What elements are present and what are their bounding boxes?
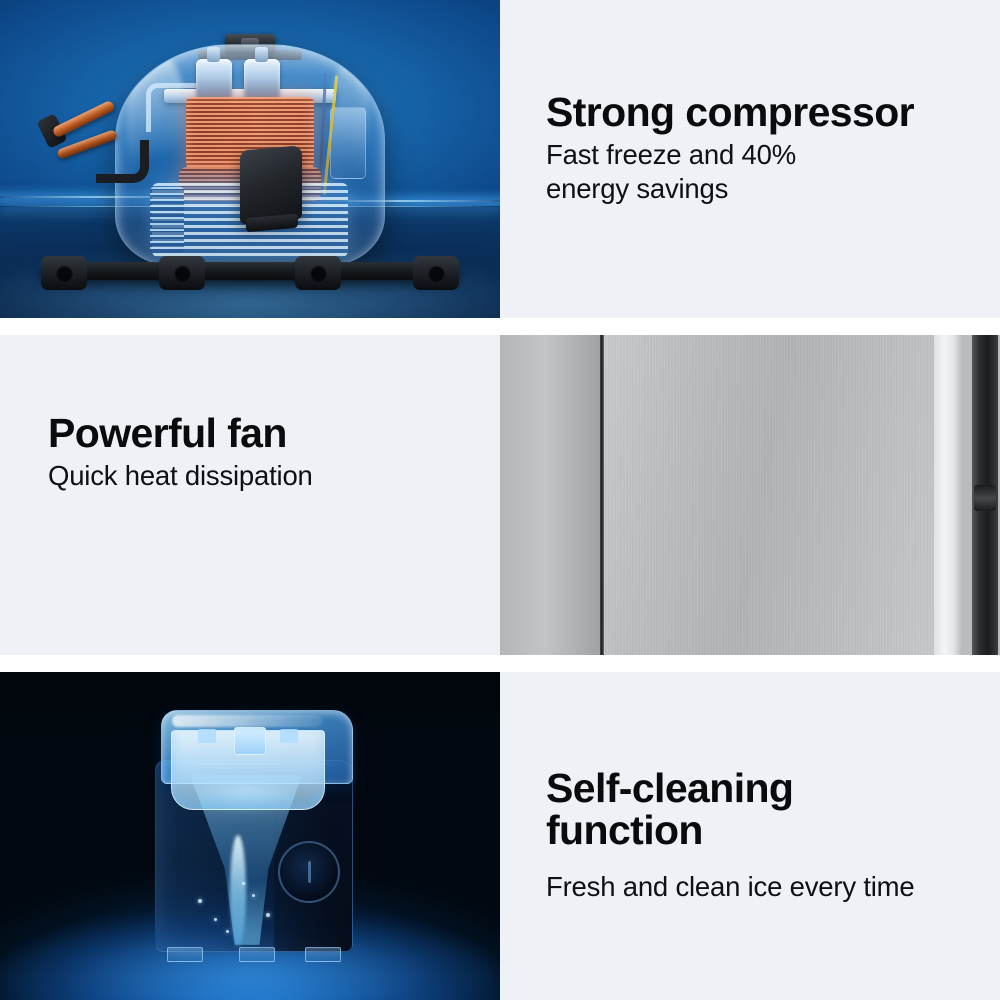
maker-foot — [239, 947, 275, 962]
ice-maker-scene — [0, 672, 500, 1000]
compressor-scene — [0, 0, 500, 318]
fan-scene — [500, 335, 1000, 655]
maker-foot — [305, 947, 341, 962]
terminal-box — [240, 145, 302, 224]
side-vent-icon — [278, 841, 340, 903]
compressor-text-panel: Strong compressor Fast freeze and 40% en… — [500, 0, 1000, 318]
water-vortex-core — [230, 835, 246, 947]
feature-row-self-cleaning: Self-cleaning function Fresh and clean i… — [0, 672, 1000, 1000]
self-cleaning-text-block: Self-cleaning function Fresh and clean i… — [546, 768, 980, 904]
water-droplet — [252, 894, 255, 897]
water-droplet — [214, 918, 217, 921]
foot-pad — [41, 256, 87, 290]
ice-basket — [171, 730, 325, 810]
foot-pad — [159, 256, 205, 290]
infographic-sheet: Strong compressor Fast freeze and 40% en… — [0, 0, 1000, 1000]
cylinder-head — [244, 59, 280, 99]
ice-maker-unit — [155, 710, 367, 952]
water-droplet — [242, 882, 245, 885]
mounting-feet — [41, 252, 459, 294]
internal-side-box — [330, 107, 366, 179]
maker-foot — [167, 947, 203, 962]
lid-highlight — [172, 715, 322, 727]
tube-elbow — [96, 140, 149, 183]
compressor-text-block: Strong compressor Fast freeze and 40% en… — [546, 92, 980, 207]
feature-row-powerful-fan: Powerful fan Quick heat dissipation — [0, 335, 1000, 655]
water-droplet — [266, 913, 270, 917]
foot-pad — [295, 256, 341, 290]
water-droplet — [198, 899, 202, 903]
compressor-image — [0, 0, 500, 318]
basket-clip — [280, 729, 298, 743]
feature-row-strong-compressor: Strong compressor Fast freeze and 40% en… — [0, 0, 1000, 318]
brushed-texture — [604, 335, 934, 655]
self-cleaning-text-panel: Self-cleaning function Fresh and clean i… — [500, 672, 1000, 1000]
feature-subline: Fast freeze and 40% energy savings — [546, 138, 980, 207]
fan-text-block: Powerful fan Quick heat dissipation — [48, 413, 480, 493]
foot-pad — [413, 256, 459, 290]
fan-image — [500, 335, 1000, 655]
foot-bar — [41, 262, 459, 280]
water-droplet — [226, 930, 229, 933]
steel-side-panel — [500, 335, 600, 655]
door-handle — [972, 335, 998, 655]
feature-subline: Fresh and clean ice every time — [546, 870, 980, 905]
basket-tab — [234, 727, 266, 755]
cylinder-head — [196, 59, 232, 99]
fan-text-panel: Powerful fan Quick heat dissipation — [0, 335, 500, 655]
ice-maker-image — [0, 672, 500, 1000]
basket-clip — [198, 729, 216, 743]
cylinder-stub — [255, 47, 268, 62]
steel-right-edge — [934, 335, 962, 655]
feature-headline: Strong compressor — [546, 92, 980, 134]
cylinder-stub — [207, 47, 220, 62]
feature-headline: Powerful fan — [48, 413, 480, 455]
feature-headline: Self-cleaning function — [546, 768, 980, 852]
feature-subline: Quick heat dissipation — [48, 459, 480, 494]
steel-main-panel — [604, 335, 934, 655]
